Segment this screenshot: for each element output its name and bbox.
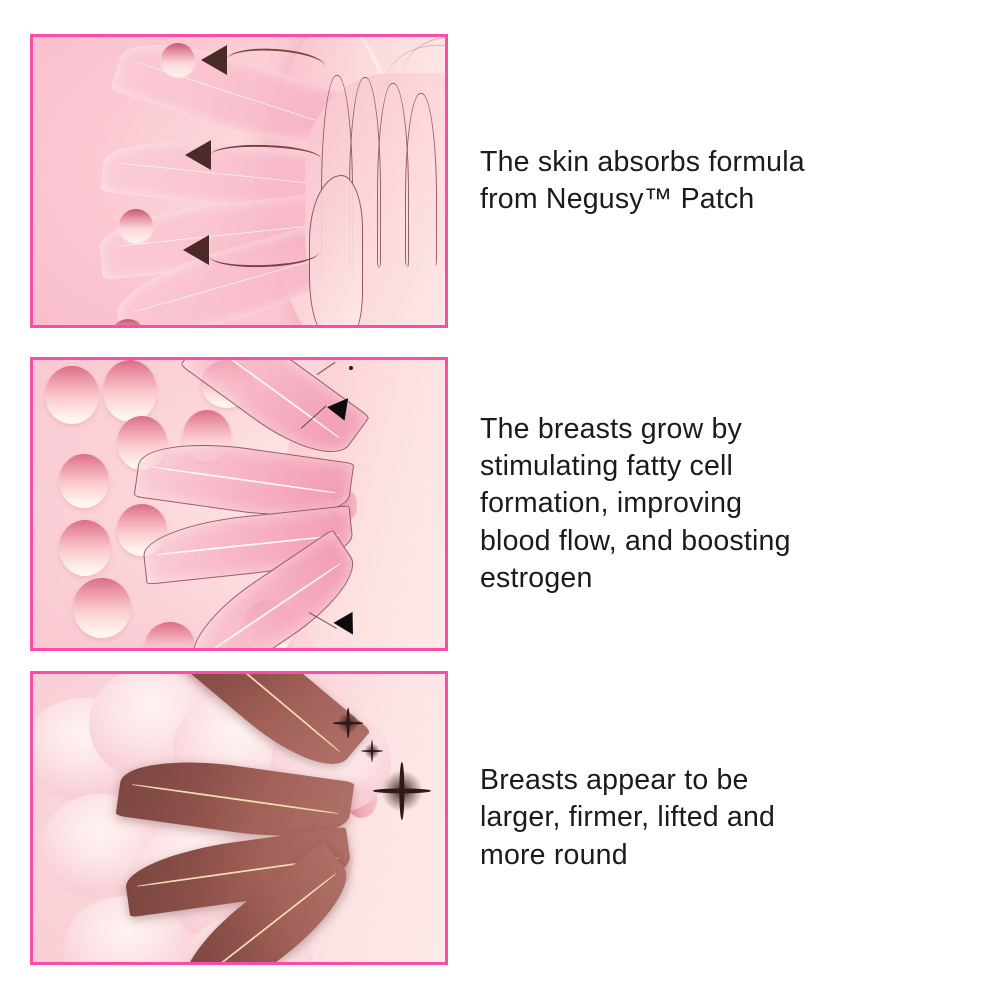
step-3-caption: Breasts appear to be larger, firmer, lif… (480, 762, 970, 873)
step-2-caption: The breasts grow by stimulating fatty ce… (480, 411, 970, 596)
patch-absorption-illustration (33, 37, 445, 325)
fat-cell-stimulation-illustration (33, 360, 445, 648)
infographic-root: The skin absorbs formula from Negusy™ Pa… (0, 0, 1000, 1000)
fatty-cell (45, 366, 99, 424)
sparkle-icon (361, 740, 383, 762)
fatty-cell (59, 454, 109, 508)
step-3-illustration-panel (30, 671, 448, 965)
sparkle-icon (373, 762, 431, 820)
arrow-dot (349, 366, 353, 370)
leaf-vein (152, 466, 337, 494)
step-row-1: The skin absorbs formula from Negusy™ Pa… (0, 33, 1000, 329)
direction-arrow-icon (185, 140, 211, 170)
direction-arrow-icon (183, 235, 209, 265)
step-row-3: Breasts appear to be larger, firmer, lif… (0, 670, 1000, 966)
leaf-vein (132, 783, 339, 814)
fatty-cell (73, 578, 131, 638)
step-1-illustration-panel (30, 34, 448, 328)
direction-arrow-icon (201, 45, 227, 75)
step-2-illustration-panel (30, 357, 448, 651)
fatty-cell (103, 360, 157, 422)
sparkle-icon (333, 708, 363, 738)
fatty-cell (59, 520, 111, 576)
patch-hole (119, 209, 153, 243)
result-fuller-breast-illustration (33, 674, 445, 962)
step-1-caption: The skin absorbs formula from Negusy™ Pa… (480, 144, 970, 218)
step-row-2: The breasts grow by stimulating fatty ce… (0, 356, 1000, 652)
patch-hole (161, 43, 195, 77)
